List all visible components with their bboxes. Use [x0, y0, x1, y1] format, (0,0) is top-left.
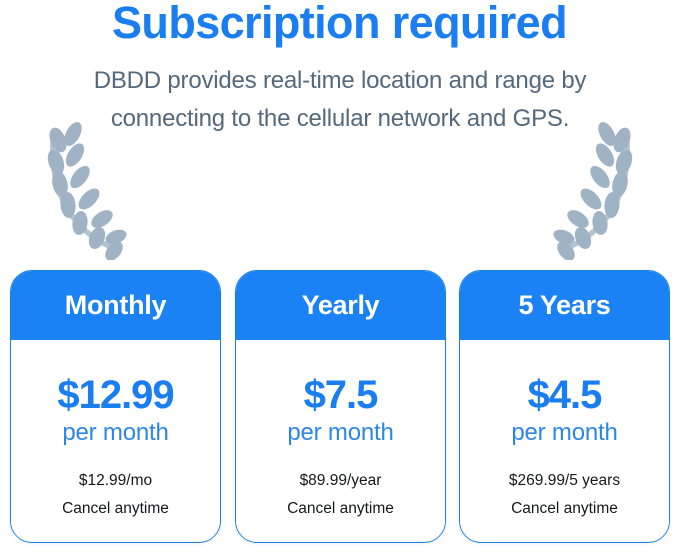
plan-price: $12.99 [57, 373, 173, 417]
plan-card-header: Monthly [10, 270, 221, 340]
plan-card-body: $12.99 per month $12.99/mo Cancel anytim… [11, 340, 220, 541]
plan-price-unit: per month [287, 419, 393, 447]
plan-name: 5 Years [518, 290, 610, 321]
plan-price-unit: per month [62, 419, 168, 447]
plan-card-monthly[interactable]: Monthly $12.99 per month $12.99/mo Cance… [10, 270, 221, 543]
plan-card-body: $7.5 per month $89.99/year Cancel anytim… [236, 340, 445, 541]
plan-billing-note: $269.99/5 years [509, 467, 620, 495]
plan-cancel-note: Cancel anytime [62, 495, 169, 523]
pricing-plans: Monthly $12.99 per month $12.99/mo Cance… [0, 270, 679, 550]
plan-cancel-note: Cancel anytime [287, 495, 394, 523]
plan-card-body: $4.5 per month $269.99/5 years Cancel an… [460, 340, 669, 541]
laurel-branch-icon [552, 120, 638, 260]
subtitle-text: DBDD provides real-time location and ran… [90, 62, 590, 138]
plan-price-unit: per month [511, 419, 617, 447]
plan-card-yearly[interactable]: Yearly $7.5 per month $89.99/year Cancel… [235, 270, 446, 543]
plan-price: $4.5 [528, 373, 602, 417]
plan-name: Yearly [302, 290, 380, 321]
plan-card-5-years[interactable]: 5 Years $4.5 per month $269.99/5 years C… [459, 270, 670, 543]
plan-billing-note: $89.99/year [300, 467, 382, 495]
subtitle-block: DBDD provides real-time location and ran… [0, 62, 679, 202]
hero-section: Subscription required [0, 0, 679, 230]
plan-name: Monthly [65, 290, 166, 321]
plan-card-header: Yearly [235, 270, 446, 340]
plan-cancel-note: Cancel anytime [511, 495, 618, 523]
plan-card-header: 5 Years [459, 270, 670, 340]
page-title: Subscription required [0, 0, 679, 48]
laurel-branch-icon [42, 120, 128, 260]
plan-price: $7.5 [304, 373, 378, 417]
plan-billing-note: $12.99/mo [79, 467, 152, 495]
